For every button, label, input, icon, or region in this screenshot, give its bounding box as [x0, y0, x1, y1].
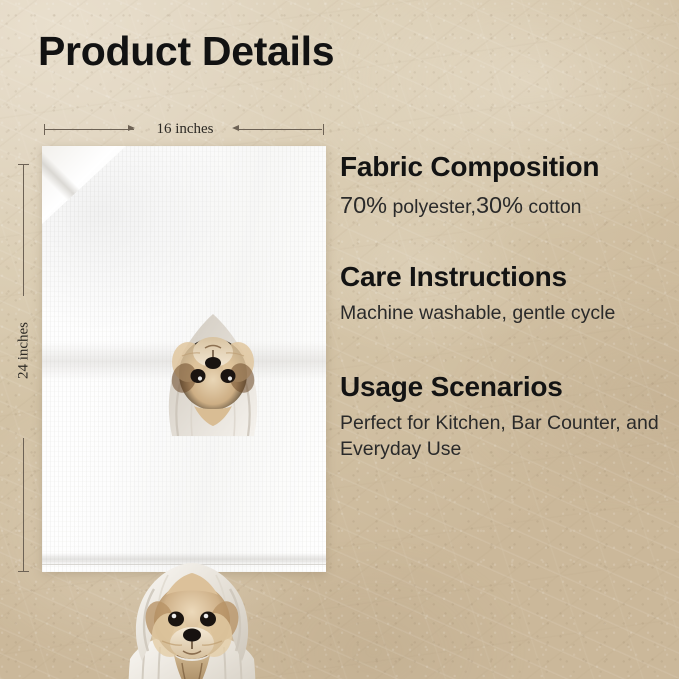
product-details-infographic: Product Details 16 inches 24 inches	[0, 0, 679, 679]
height-bottom-end-cap	[18, 571, 29, 572]
detail-block-usage: Usage Scenarios Perfect for Kitchen, Bar…	[340, 372, 670, 462]
usage-body: Perfect for Kitchen, Bar Counter, and Ev…	[340, 410, 670, 463]
fabric-cotton-label: cotton	[523, 196, 582, 218]
width-left-arrow-icon	[128, 125, 135, 131]
product-photo-towel	[42, 146, 326, 572]
width-left-line	[44, 129, 134, 130]
height-label: 24 inches	[16, 303, 33, 399]
fabric-heading: Fabric Composition	[340, 152, 599, 183]
usage-heading: Usage Scenarios	[340, 372, 670, 403]
width-right-end-cap	[323, 124, 324, 135]
care-body: Machine washable, gentle cycle	[340, 300, 615, 326]
detail-block-care: Care Instructions Machine washable, gent…	[340, 262, 615, 326]
width-label: 16 inches	[137, 121, 233, 138]
fabric-body: 70% polyester,30% cotton	[340, 190, 599, 222]
dog-print-top-inverted	[142, 301, 284, 436]
height-top-line	[23, 164, 24, 296]
fabric-cotton-pct: 30%	[476, 192, 523, 218]
dog-print-bottom	[108, 559, 276, 679]
fabric-poly-pct: 70%	[340, 192, 387, 218]
width-dimension-annotation: 16 inches	[42, 122, 326, 138]
care-heading: Care Instructions	[340, 262, 615, 293]
height-dimension-annotation: 24 inches	[16, 162, 32, 574]
page-title: Product Details	[38, 28, 334, 75]
height-bottom-line	[23, 438, 24, 571]
detail-block-fabric: Fabric Composition 70% polyester,30% cot…	[340, 152, 599, 222]
fabric-poly-label: polyester,	[387, 196, 476, 218]
width-right-line	[238, 129, 322, 130]
